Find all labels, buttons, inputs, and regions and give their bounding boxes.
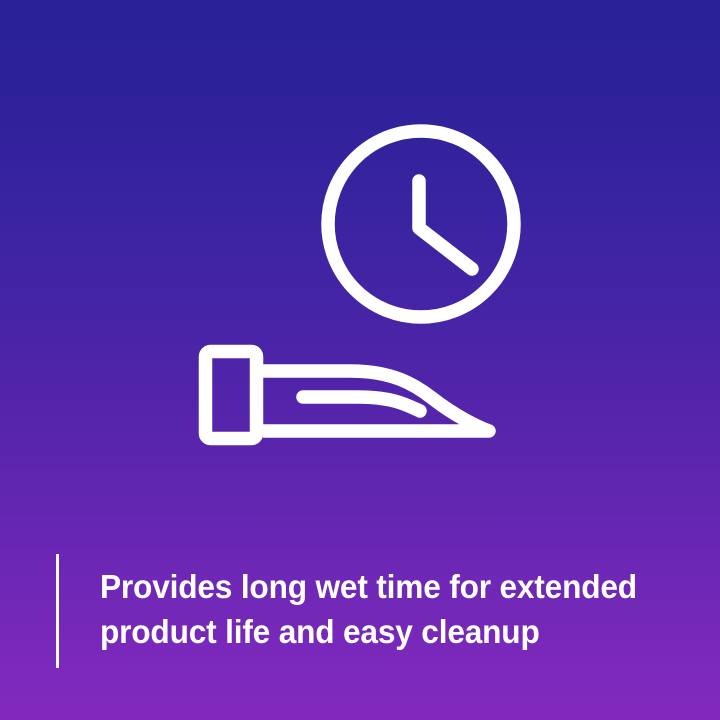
open-hand-icon-thumb (303, 397, 420, 411)
feature-callout-graphic: Provides long wet time for extended prod… (0, 0, 720, 720)
open-hand-icon-cuff (206, 352, 257, 439)
caption-text: Provides long wet time for extended prod… (100, 554, 668, 668)
caption-line-2: product life and easy cleanup (100, 610, 637, 655)
icon-artwork (0, 0, 720, 470)
caption-line-1: Provides long wet time for extended (100, 565, 637, 610)
caption-accent-rule (56, 554, 59, 668)
clock-icon-hands (419, 181, 472, 269)
icon-group (0, 0, 720, 470)
caption-block: Provides long wet time for extended prod… (56, 554, 668, 668)
